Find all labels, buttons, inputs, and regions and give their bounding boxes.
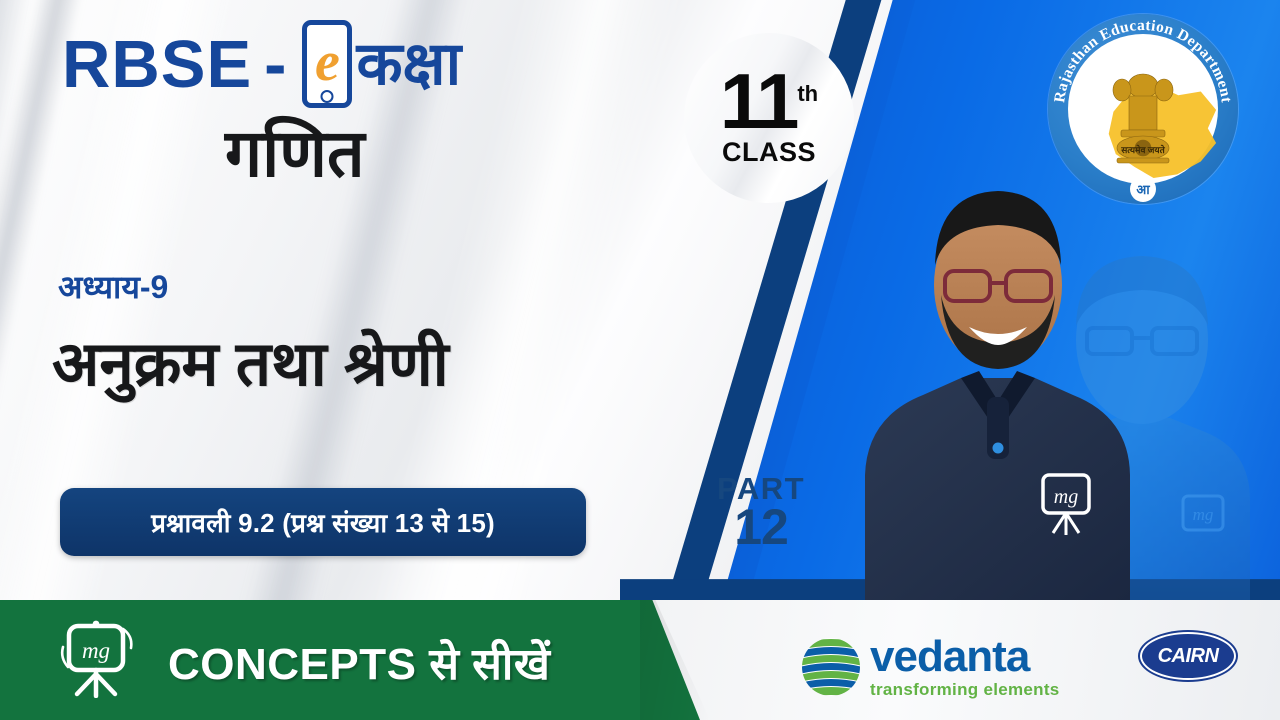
ashoka-emblem-icon (1107, 64, 1179, 174)
vedanta-globe-icon (800, 636, 862, 698)
subject-title: गणित (225, 120, 365, 186)
chapter-title: अनुक्रम तथा श्रेणी (52, 330, 449, 399)
exercise-badge: प्रश्नावली 9.2 (प्रश्न संख्या 13 से 15) (60, 488, 586, 556)
class-number: 11th (720, 68, 818, 134)
svg-text:mg: mg (1193, 505, 1214, 524)
footer-tagline-en: CONCEPTS (168, 640, 416, 689)
smartphone-icon: e (302, 20, 352, 108)
svg-text:mg: mg (82, 638, 110, 663)
seal-motto: सत्यमेव जयते (1068, 143, 1218, 156)
vedanta-tagline: transforming elements (870, 681, 1060, 698)
cairn-name: CAIRN (1158, 645, 1219, 668)
vedanta-wordmark: vedanta transforming elements (870, 635, 1060, 698)
seal-bottom-mark: आ (1130, 176, 1156, 202)
instructor-front-icon: mg (865, 145, 1130, 600)
brand-logo: RBSE - e कक्षा (62, 20, 461, 108)
class-number-value: 11 (720, 57, 796, 145)
cairn-logo: CAIRN (1140, 632, 1236, 680)
brand-name: RBSE (62, 31, 252, 98)
svg-text:mg: mg (1054, 486, 1078, 508)
class-badge: 11th CLASS (684, 33, 854, 203)
chapter-label: अध्याय-9 (58, 265, 168, 308)
footer-tagline: CONCEPTS से सीखें (168, 632, 550, 692)
part-indicator: PART 12 (676, 473, 846, 552)
part-number: 12 (676, 502, 846, 552)
vedanta-logo: vedanta transforming elements (800, 635, 1060, 698)
footer-bar: mg CONCEPTS से सीखें (0, 600, 1280, 720)
brand-kaksha: कक्षा (356, 34, 461, 94)
rajasthan-education-department-seal: Rajasthan Education Department सत्यमेव ज… (1048, 14, 1238, 204)
e-glyph: e (315, 34, 340, 90)
exercise-badge-label: प्रश्नावली 9.2 (प्रश्न संख्या 13 से 15) (151, 504, 495, 540)
class-ordinal: th (797, 81, 818, 106)
video-thumbnail: mg mg (0, 0, 1280, 720)
brand-separator: - (264, 31, 286, 98)
vedanta-name: vedanta (870, 635, 1060, 679)
mg-easel-icon: mg (57, 620, 143, 698)
footer-tagline-hi: से सीखें (429, 640, 550, 689)
seal-inner-disc: सत्यमेव जयते (1068, 34, 1218, 184)
green-banner-shadow (640, 600, 710, 720)
